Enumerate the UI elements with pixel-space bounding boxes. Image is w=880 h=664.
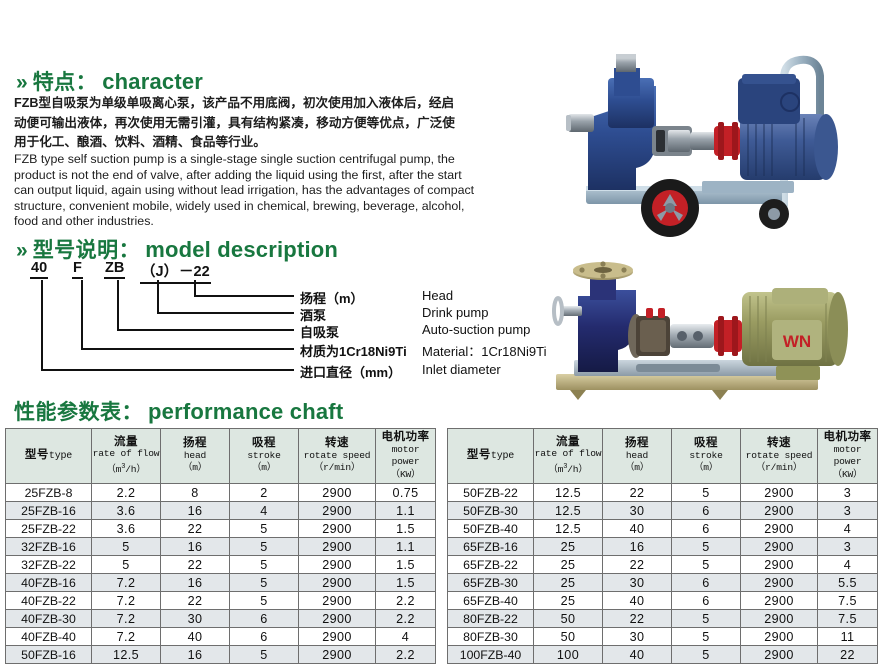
cell-model-type: 80FZB-22: [448, 610, 534, 628]
col-stroke: 吸程 stroke （m）: [230, 429, 299, 484]
cell-value: 40: [603, 520, 672, 538]
leader-line-auto-suction-h: [117, 329, 294, 331]
table-left-body: 25FZB-82.28229000.7525FZB-163.616429001.…: [6, 484, 436, 664]
table-row: 50FZB-2212.522529003: [448, 484, 878, 502]
cell-model-type: 40FZB-30: [6, 610, 92, 628]
cell-value: 5: [92, 538, 161, 556]
base-foot-right: [712, 390, 728, 400]
section-heading-performance: 性能参数表： performance chaft: [14, 396, 343, 426]
cell-model-type: 50FZB-40: [448, 520, 534, 538]
cell-value: 40: [603, 646, 672, 664]
cell-value: 1.5: [376, 556, 436, 574]
cell-value: 30: [603, 574, 672, 592]
leader-line-auto-suction-v: [117, 280, 119, 329]
col-motor-power: 电机功率 motor power （KW）: [376, 429, 436, 484]
col-type: 型号type: [448, 429, 534, 484]
motor-foot: [776, 366, 820, 380]
cell-value: 2900: [741, 556, 818, 574]
cell-value: 5: [672, 628, 741, 646]
motor-brand-logo: WN: [783, 332, 811, 351]
cell-value: 40: [161, 628, 230, 646]
section-heading-character: » 特点： character: [16, 66, 203, 96]
cell-value: 2900: [299, 646, 376, 664]
callout-en-drink-pump: Drink pump: [422, 305, 488, 320]
cell-value: 40: [603, 592, 672, 610]
cell-value: 22: [603, 610, 672, 628]
inlet-nozzle: [568, 114, 594, 132]
character-en-line: product is not the end of valve, after a…: [14, 168, 464, 184]
cell-value: 22: [818, 646, 878, 664]
col-rotate-speed: 转速 rotate speed （r/min）: [299, 429, 376, 484]
heading-performance-cn: 性能参数表：: [14, 396, 143, 426]
cell-value: 2900: [741, 628, 818, 646]
cell-value: 5: [230, 520, 299, 538]
cell-model-type: 100FZB-40: [448, 646, 534, 664]
leader-line-material-v: [81, 280, 83, 348]
cell-value: 2900: [299, 502, 376, 520]
datasheet-page: » 特点： character FZB型自吸泵为单级单吸离心泵，该产品不用底阀，…: [0, 0, 880, 635]
cell-value: 7.2: [92, 628, 161, 646]
callout-cn-inlet-diameter: 进口直径（mm）: [300, 362, 401, 381]
cell-value: 2900: [741, 592, 818, 610]
cell-model-type: 50FZB-30: [448, 502, 534, 520]
cell-value: 2.2: [92, 484, 161, 502]
cell-value: 3: [818, 484, 878, 502]
cell-value: 7.2: [92, 610, 161, 628]
shaft: [690, 132, 718, 150]
model-token-inlet-diameter: 40: [30, 260, 48, 279]
cell-value: 25: [534, 574, 603, 592]
cell-value: 2900: [299, 610, 376, 628]
cell-model-type: 50FZB-22: [448, 484, 534, 502]
table-row: 40FZB-167.216529001.5: [6, 574, 436, 592]
cell-value: 0.75: [376, 484, 436, 502]
shaft-sleeve: [670, 324, 714, 348]
cell-value: 1.1: [376, 502, 436, 520]
col-rate-of-flow: 流量 rate of flow （m3/h）: [534, 429, 603, 484]
callout-en-material: Material：1Cr18Ni9Ti: [422, 341, 547, 360]
leader-line-drink-pump-h: [157, 312, 294, 314]
cell-value: 12.5: [534, 520, 603, 538]
table-row: 25FZB-163.616429001.1: [6, 502, 436, 520]
table-row: 65FZB-222522529004: [448, 556, 878, 574]
cell-value: 2900: [299, 484, 376, 502]
cell-value: 3.6: [92, 502, 161, 520]
photo-base-mounted-pump: WN: [540, 250, 878, 410]
cell-value: 12.5: [534, 502, 603, 520]
suction-riser-nozzle: [616, 56, 636, 72]
cell-value: 2.2: [376, 646, 436, 664]
table-left-header: 型号type 流量 rate of flow （m3/h） 扬程 head （m…: [6, 429, 436, 484]
table-row: 32FZB-22522529001.5: [6, 556, 436, 574]
photo-mobile-cart-pump: [552, 18, 872, 243]
heading-performance-en: performance chaft: [148, 399, 343, 425]
cell-model-type: 50FZB-16: [6, 646, 92, 664]
cell-value: 6: [672, 502, 741, 520]
table-row: 80FZB-3050305290011: [448, 628, 878, 646]
cell-model-type: 80FZB-30: [448, 628, 534, 646]
table-row: 50FZB-3012.530629003: [448, 502, 878, 520]
side-valve-stem: [562, 306, 582, 316]
cell-model-type: 25FZB-16: [6, 502, 92, 520]
cell-value: 5: [672, 556, 741, 574]
cell-model-type: 65FZB-40: [448, 592, 534, 610]
cell-value: 3: [818, 538, 878, 556]
cell-value: 2900: [299, 628, 376, 646]
cell-value: 2900: [741, 484, 818, 502]
cell-value: 2900: [741, 574, 818, 592]
cell-value: 2.2: [376, 610, 436, 628]
cell-value: 22: [603, 556, 672, 574]
model-code-diagram: 40 F ZB （J） －22 扬程（m） 酒泵 自吸泵 材质为1Cr18Ni9…: [0, 258, 540, 398]
cell-value: 3: [818, 502, 878, 520]
cell-value: 2: [230, 484, 299, 502]
cell-value: 16: [161, 502, 230, 520]
base-foot-left: [570, 390, 586, 400]
leader-line-material-h: [81, 348, 294, 350]
cell-value: 5.5: [818, 574, 878, 592]
table-row: 25FZB-82.28229000.75: [6, 484, 436, 502]
cell-value: 1.5: [376, 574, 436, 592]
table-row: 65FZB-162516529003: [448, 538, 878, 556]
cell-value: 4: [818, 520, 878, 538]
cell-value: 5: [230, 592, 299, 610]
table-row: 65FZB-302530629005.5: [448, 574, 878, 592]
cell-value: 30: [603, 502, 672, 520]
cell-value: 12.5: [92, 646, 161, 664]
heading-character-cn: 特点：: [33, 66, 98, 96]
cell-value: 5: [230, 646, 299, 664]
table-row: 40FZB-407.240629004: [6, 628, 436, 646]
cell-value: 16: [603, 538, 672, 556]
character-en-line: FZB type self suction pump is a single-s…: [14, 152, 464, 168]
model-token-auto-suction: ZB: [104, 260, 125, 279]
cell-value: 2900: [741, 538, 818, 556]
cell-model-type: 65FZB-30: [448, 574, 534, 592]
cell-value: 4: [818, 556, 878, 574]
cell-value: 5: [230, 538, 299, 556]
col-motor-power: 电机功率 motor power （KW）: [818, 429, 878, 484]
performance-table-right: 型号type 流量 rate of flow （m3/h） 扬程 head （m…: [447, 428, 878, 664]
cell-value: 5: [672, 538, 741, 556]
table-right-header: 型号type 流量 rate of flow （m3/h） 扬程 head （m…: [448, 429, 878, 484]
table-row: 32FZB-16516529001.1: [6, 538, 436, 556]
cell-value: 1.5: [376, 520, 436, 538]
cell-value: 25: [534, 592, 603, 610]
table-row: 50FZB-4012.540629004: [448, 520, 878, 538]
col-rate-of-flow: 流量 rate of flow （m3/h）: [92, 429, 161, 484]
cell-value: 2900: [299, 574, 376, 592]
callout-cn-auto-suction: 自吸泵: [300, 322, 339, 341]
table-row: 40FZB-227.222529002.2: [6, 592, 436, 610]
col-head: 扬程 head （m）: [603, 429, 672, 484]
cell-value: 4: [230, 502, 299, 520]
mobile-cart-pump-illustration: [552, 18, 872, 243]
model-token-material: F: [72, 260, 83, 279]
col-stroke: 吸程 stroke （m）: [672, 429, 741, 484]
cell-model-type: 40FZB-22: [6, 592, 92, 610]
cell-value: 5: [230, 556, 299, 574]
cell-value: 100: [534, 646, 603, 664]
col-type: 型号type: [6, 429, 92, 484]
cell-model-type: 25FZB-8: [6, 484, 92, 502]
cell-value: 11: [818, 628, 878, 646]
table-row: 100FZB-40100405290022: [448, 646, 878, 664]
pump-casing: [578, 290, 636, 372]
cell-value: 16: [161, 574, 230, 592]
cell-value: 6: [230, 628, 299, 646]
cell-model-type: 65FZB-16: [448, 538, 534, 556]
cell-value: 22: [161, 592, 230, 610]
cell-value: 16: [161, 646, 230, 664]
cell-value: 7.5: [818, 592, 878, 610]
table-row: 80FZB-225022529007.5: [448, 610, 878, 628]
character-en-line: structure, convenient mobile, widely use…: [14, 199, 464, 215]
motor-fan-cover: [828, 292, 848, 366]
chevron-marker-icon: »: [16, 72, 28, 93]
cell-value: 2900: [299, 538, 376, 556]
leader-line-drink-pump-v: [157, 280, 159, 312]
character-en-line: can output liquid, again using without l…: [14, 183, 464, 199]
character-en-line: food and other industries.: [14, 214, 464, 230]
cell-value: 12.5: [534, 484, 603, 502]
cell-value: 22: [161, 556, 230, 574]
callout-en-head: Head: [422, 288, 453, 303]
performance-table-left: 型号type 流量 rate of flow （m3/h） 扬程 head （m…: [5, 428, 436, 664]
cell-model-type: 32FZB-16: [6, 538, 92, 556]
table-row: 25FZB-223.622529001.5: [6, 520, 436, 538]
cell-value: 2900: [299, 592, 376, 610]
callout-cn-material: 材质为1Cr18Ni9Ti: [300, 341, 407, 360]
cell-value: 2900: [741, 520, 818, 538]
cell-value: 7.2: [92, 592, 161, 610]
cell-value: 5: [672, 646, 741, 664]
base-mounted-pump-illustration: WN: [540, 250, 878, 410]
leader-line-head-v: [194, 280, 196, 295]
handwheel-icon: [554, 298, 562, 324]
cell-model-type: 65FZB-22: [448, 556, 534, 574]
cell-model-type: 32FZB-22: [6, 556, 92, 574]
table-row: 50FZB-1612.516529002.2: [6, 646, 436, 664]
cell-value: 1.1: [376, 538, 436, 556]
cell-model-type: 40FZB-16: [6, 574, 92, 592]
cell-value: 6: [672, 520, 741, 538]
cell-value: 2900: [299, 520, 376, 538]
table-row: 40FZB-307.230629002.2: [6, 610, 436, 628]
cell-value: 6: [230, 610, 299, 628]
cell-value: 7.5: [818, 610, 878, 628]
cell-value: 5: [672, 610, 741, 628]
cell-value: 30: [161, 610, 230, 628]
leader-line-inlet-diameter-v: [41, 280, 43, 369]
cell-value: 6: [672, 592, 741, 610]
cell-value: 8: [161, 484, 230, 502]
cell-value: 2900: [741, 610, 818, 628]
cell-value: 7.2: [92, 574, 161, 592]
cell-value: 3.6: [92, 520, 161, 538]
cell-model-type: 25FZB-22: [6, 520, 92, 538]
cell-value: 5: [230, 574, 299, 592]
leader-line-head-h: [194, 295, 294, 297]
motor-fan-cover: [814, 114, 838, 180]
cell-value: 25: [534, 556, 603, 574]
cell-value: 50: [534, 628, 603, 646]
leader-line-inlet-diameter-h: [41, 369, 294, 371]
motor-lifting-eye: [772, 288, 828, 304]
cell-value: 30: [603, 628, 672, 646]
cell-model-type: 40FZB-40: [6, 628, 92, 646]
cell-value: 2.2: [376, 592, 436, 610]
col-head: 扬程 head （m）: [161, 429, 230, 484]
cell-value: 22: [161, 520, 230, 538]
table-header-row: 型号type 流量 rate of flow （m3/h） 扬程 head （m…: [448, 429, 878, 484]
cell-value: 25: [534, 538, 603, 556]
character-paragraph-cn: FZB型自吸泵为单级单吸离心泵，该产品不用底阀，初次使用加入液体后，经启动便可输…: [14, 94, 462, 153]
cell-value: 22: [603, 484, 672, 502]
cell-value: 2900: [741, 502, 818, 520]
cell-value: 4: [376, 628, 436, 646]
table-row: 65FZB-402540629007.5: [448, 592, 878, 610]
cell-value: 6: [672, 574, 741, 592]
table-header-row: 型号type 流量 rate of flow （m3/h） 扬程 head （m…: [6, 429, 436, 484]
cell-value: 2900: [299, 556, 376, 574]
heading-character-en: character: [102, 69, 203, 95]
col-rotate-speed: 转速 rotate speed （r/min）: [741, 429, 818, 484]
cell-value: 50: [534, 610, 603, 628]
cell-value: 5: [672, 484, 741, 502]
cell-value: 2900: [741, 646, 818, 664]
table-right-body: 50FZB-2212.52252900350FZB-3012.530629003…: [448, 484, 878, 664]
model-token-drink-pump: （J）: [140, 260, 179, 284]
cell-value: 5: [92, 556, 161, 574]
cell-value: 16: [161, 538, 230, 556]
callout-en-inlet-diameter: Inlet diameter: [422, 362, 501, 377]
character-paragraph-en: FZB type self suction pump is a single-s…: [14, 152, 464, 230]
callout-en-auto-suction: Auto-suction pump: [422, 322, 530, 337]
